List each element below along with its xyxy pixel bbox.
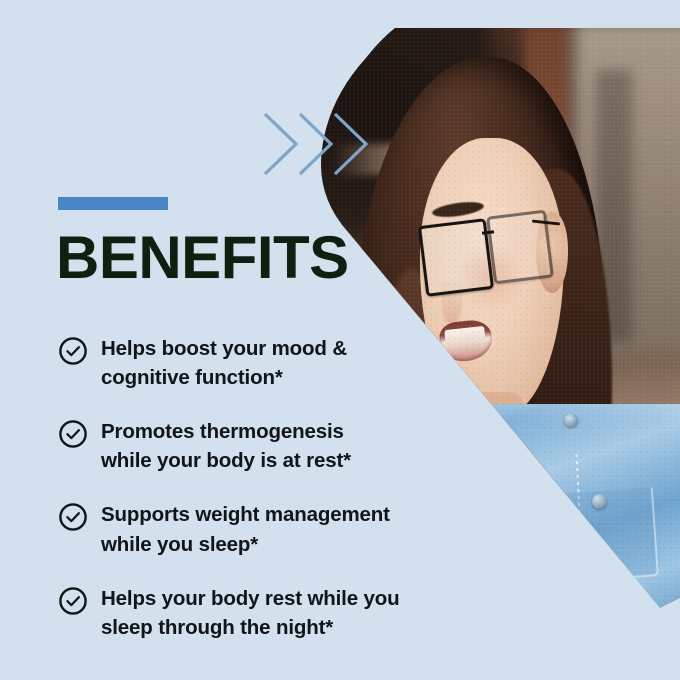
check-circle-icon	[58, 586, 88, 616]
list-item: Promotes thermogenesis while your body i…	[58, 417, 478, 475]
check-circle-icon	[58, 502, 88, 532]
benefit-text: Promotes thermogenesis while your body i…	[101, 417, 351, 475]
benefit-text: Helps your body rest while you sleep thr…	[101, 584, 400, 642]
check-circle-icon	[58, 419, 88, 449]
page-title: BENEFITS	[56, 228, 349, 288]
list-item: Helps boost your mood & cognitive functi…	[58, 334, 478, 392]
benefits-list: Helps boost your mood & cognitive functi…	[58, 334, 478, 667]
benefits-infographic: BENEFITS Helps boost your mood & cogniti…	[0, 0, 680, 680]
check-circle-icon	[58, 336, 88, 366]
list-item: Helps your body rest while you sleep thr…	[58, 584, 478, 642]
list-item: Supports weight management while you sle…	[58, 500, 478, 558]
benefit-text: Supports weight management while you sle…	[101, 500, 390, 558]
benefit-text: Helps boost your mood & cognitive functi…	[101, 334, 347, 392]
accent-bar	[58, 197, 168, 210]
